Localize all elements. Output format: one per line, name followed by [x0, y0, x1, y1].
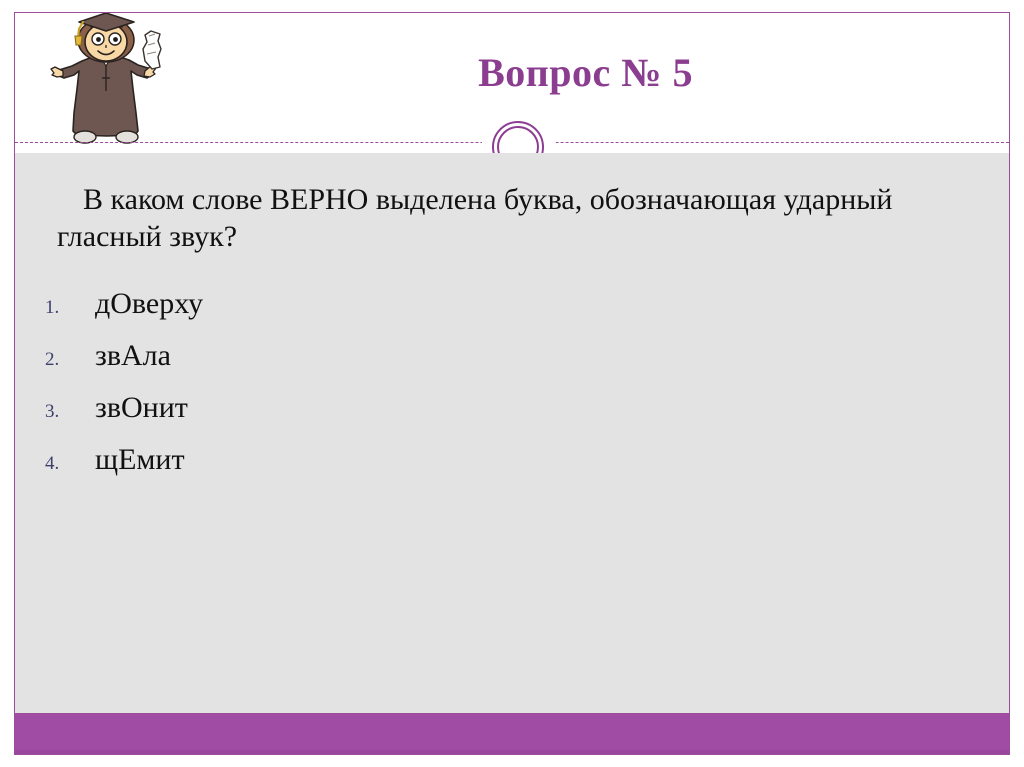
answer-number: 4.	[45, 453, 95, 475]
list-item[interactable]: 1. дОверху	[45, 289, 925, 341]
answer-label: звОнит	[95, 393, 188, 423]
answer-number: 1.	[45, 297, 95, 319]
graduate-cartoon-icon	[41, 12, 171, 149]
list-item[interactable]: 2. звАла	[45, 341, 925, 393]
slide-content: В каком слове ВЕРНО выделена буква, обоз…	[15, 153, 1009, 714]
list-item[interactable]: 4. щЕмит	[45, 445, 925, 497]
answer-number: 2.	[45, 349, 95, 371]
answer-number: 3.	[45, 401, 95, 423]
slide: Вопрос № 5 В каком слове ВЕРНО выделена …	[14, 12, 1010, 755]
answer-label: звАла	[95, 341, 171, 371]
page-title: Вопрос № 5	[478, 49, 693, 96]
question-text: В каком слове ВЕРНО выделена буква, обоз…	[57, 182, 937, 255]
footer-bar-shade	[15, 750, 1009, 754]
answer-list: 1. дОверху 2. звАла 3. звОнит 4. щЕмит	[45, 289, 925, 497]
list-item[interactable]: 3. звОнит	[45, 393, 925, 445]
answer-label: дОверху	[95, 289, 203, 319]
answer-label: щЕмит	[95, 445, 185, 475]
footer-bar	[15, 713, 1009, 754]
